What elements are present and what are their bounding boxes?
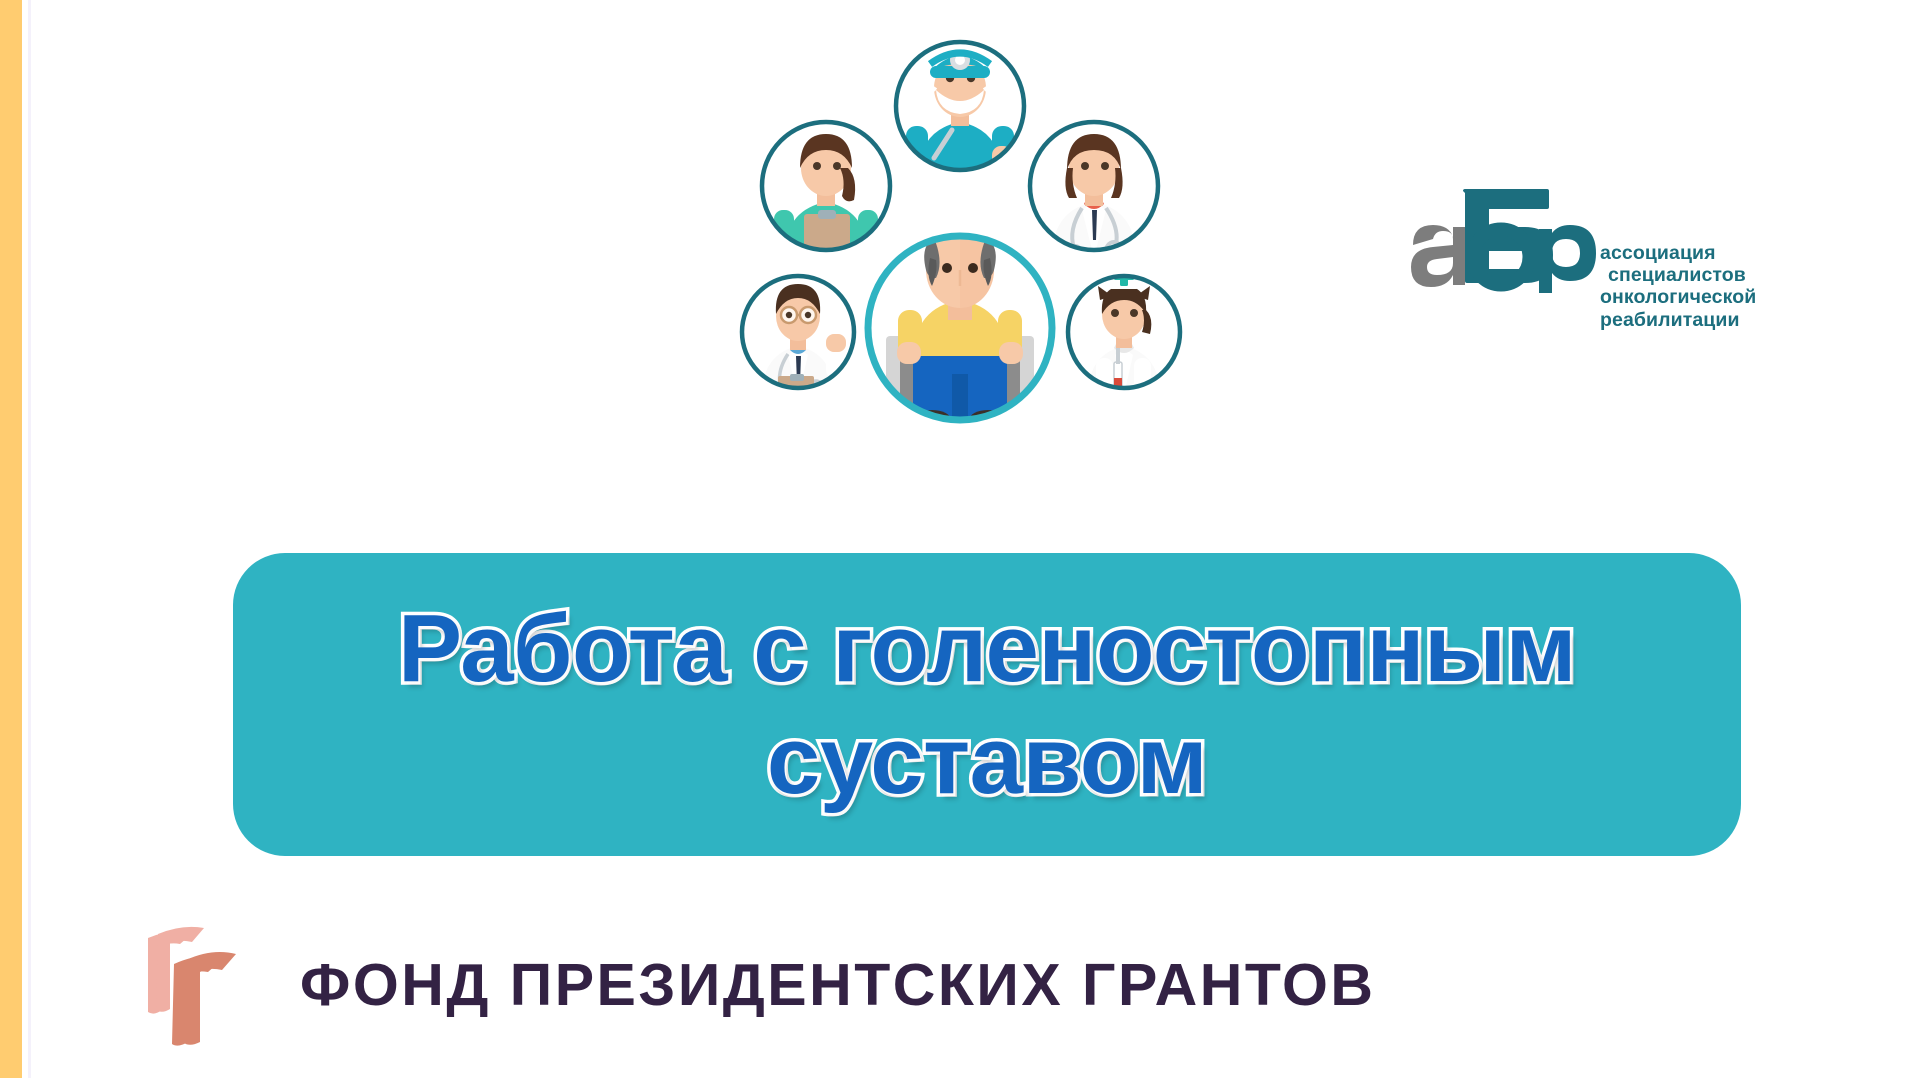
medical-team-illustration [700,18,1220,508]
asor-text-line-4: реабилитации [1600,309,1810,331]
presidential-grants-fund-logo: ФОНД ПРЕЗИДЕНТСКИХ ГРАНТОВ [140,920,1375,1050]
figure-female-doctor [1030,122,1158,266]
page-title-line-2: суставом [767,707,1207,815]
asor-logo-text: ассоциация специалистов онкологической р… [1600,242,1810,331]
asor-text-line-1: ассоциация [1600,242,1810,264]
title-banner: Работа с голеностопным суставом [233,553,1741,856]
asor-text-line-3: онкологической [1600,286,1810,308]
page-title-line-1: Работа с голеностопным [398,595,1576,703]
fund-logo-text: ФОНД ПРЕЗИДЕНТСКИХ ГРАНТОВ [300,951,1375,1019]
asor-text-line-2: специалистов [1608,264,1810,286]
left-accent-stripe [0,0,22,1078]
figure-nurse-syringe [1068,266,1180,400]
fund-logo-mark-icon [140,920,260,1050]
slide-canvas: ассоциация специалистов онкологической р… [0,0,1920,1078]
left-accent-stripe-shadow [28,0,31,1078]
